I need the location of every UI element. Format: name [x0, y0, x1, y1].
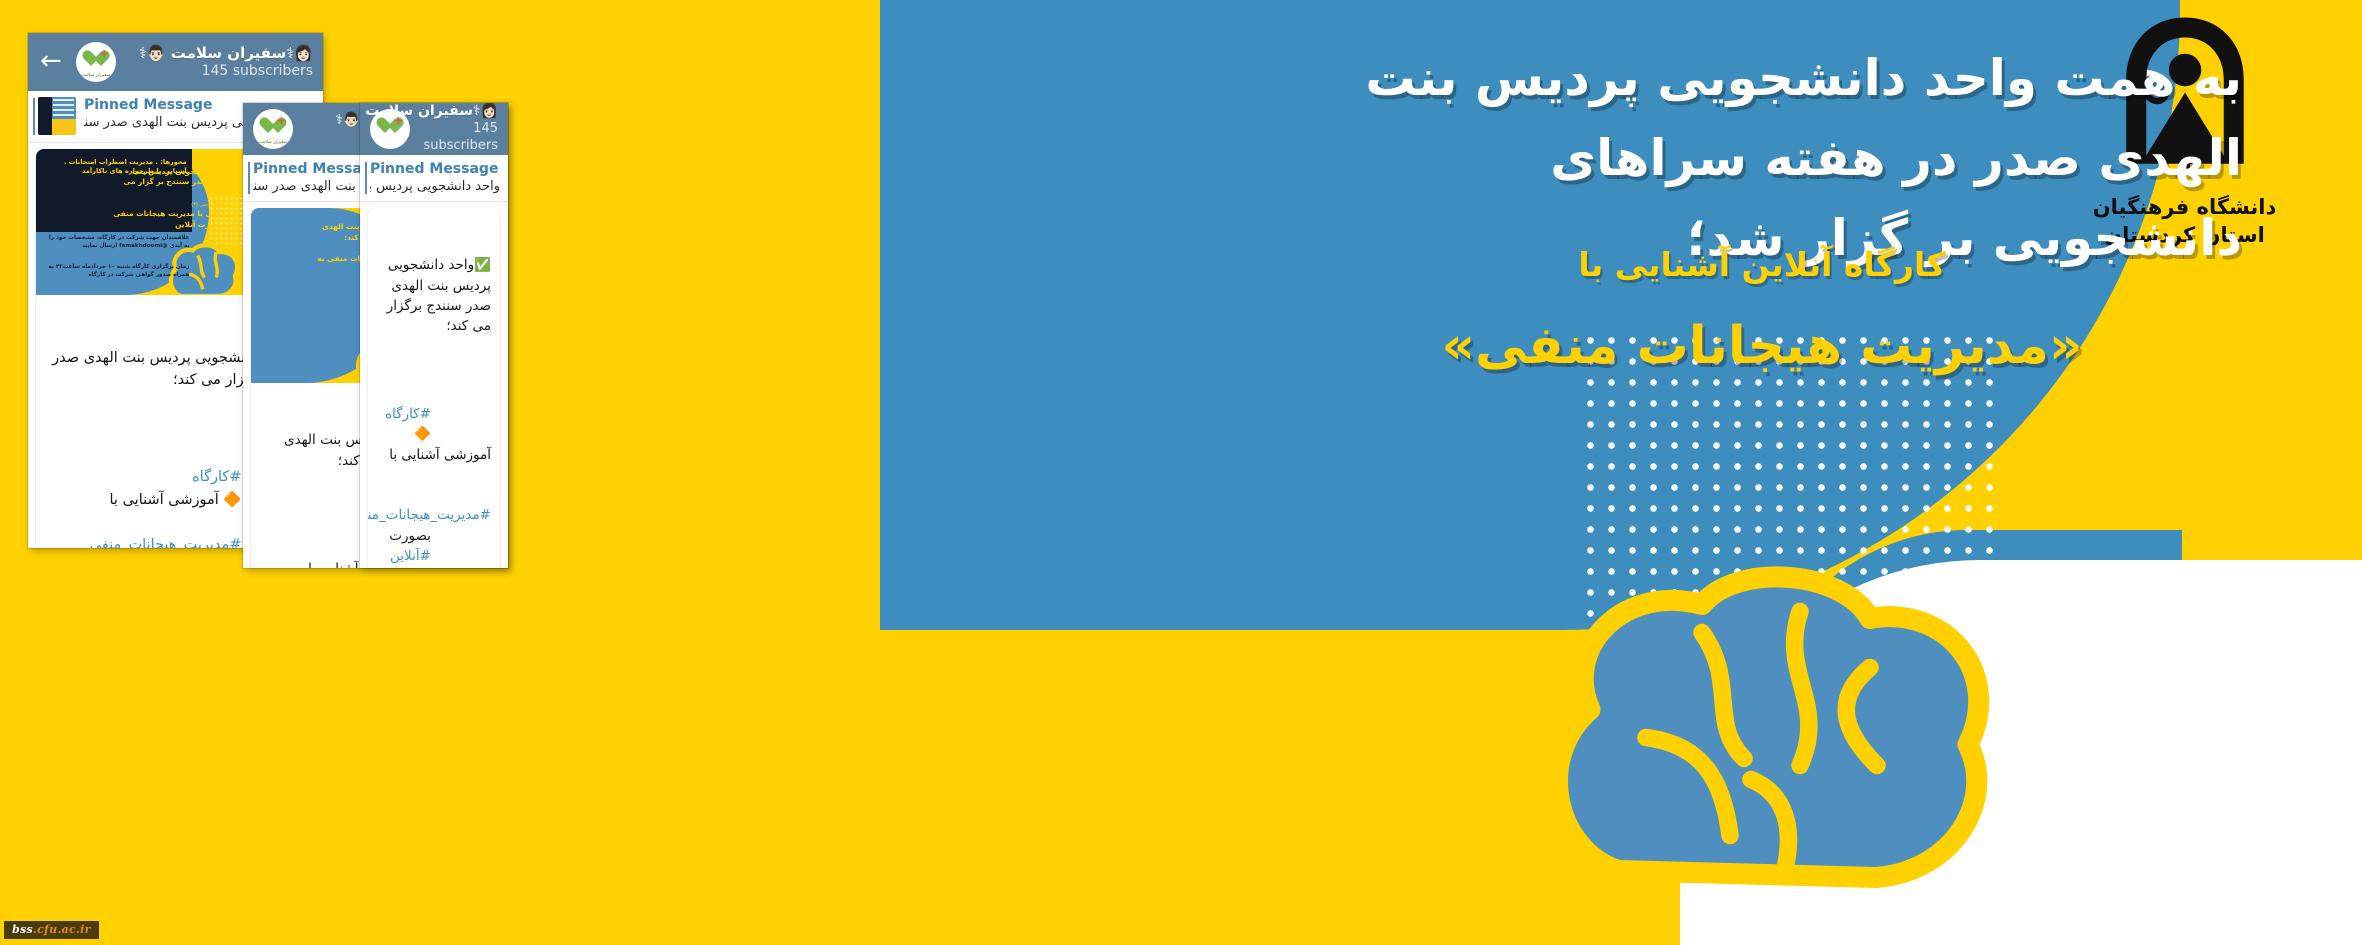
- message-list: ✅واحد دانشجویی پردیس بنت الهدی صدر سنندج…: [360, 202, 508, 568]
- channel-header: + 👩🏻⚕سفیران سلامت 👨🏻⚕ 145 subscribers: [360, 103, 508, 155]
- poster-heading-line: واحد دانشجویی پردیس بنت الهدی صدر سنندج …: [124, 167, 232, 197]
- channel-subscribers: 145 subscribers: [418, 121, 498, 155]
- watermark: bss.cfu.ac.ir: [4, 921, 99, 939]
- main-poster: دانشگاه فرهنگیان استان کردستان به همت وا…: [880, 0, 2362, 945]
- plus-icon: +: [394, 115, 403, 126]
- channel-header: ← + سفیران سلامت 👩🏻⚕سفیران سلامت 👨🏻⚕ 145…: [28, 33, 323, 91]
- watermark-prefix: bss: [12, 923, 33, 936]
- channel-title: 👩🏻⚕سفیران سلامت 👨🏻⚕: [124, 44, 313, 63]
- plus-icon: +: [277, 115, 286, 126]
- message-line-check: ✅واحد دانشجویی پردیس بنت الهدی صدر سنندج…: [377, 255, 491, 336]
- back-arrow-icon[interactable]: ←: [38, 48, 68, 77]
- screenshot-root: ← + سفیران سلامت 👩🏻⚕سفیران سلامت 👨🏻⚕ 145…: [0, 0, 2362, 945]
- poster-subtitle: کارگاه آنلاین آشنایی با: [1312, 240, 2212, 290]
- avatar-caption: سفیران سلامت: [253, 140, 293, 145]
- watermark-suffix: .cfu.ac.ir: [33, 923, 91, 936]
- message-bubble[interactable]: ✅واحد دانشجویی پردیس بنت الهدی صدر سنندج…: [368, 208, 500, 568]
- channel-meta: 👩🏻⚕سفیران سلامت 👨🏻⚕ 145 subscribers: [124, 44, 313, 81]
- message-line-workshop: #کارگاه 🔶 آموزشی آشنایی با #مدیریت_هیجان…: [377, 384, 491, 568]
- pinned-message-bar[interactable]: Pinned Message واحد دانشجویی پردیس بنت ا…: [360, 155, 508, 202]
- hashtag-workshop[interactable]: #کارگاه: [192, 469, 241, 485]
- pinned-label: Pinned Message: [370, 161, 500, 178]
- brain-icon: [1520, 560, 2080, 945]
- channel-title: 👩🏻⚕سفیران سلامت 👨🏻⚕: [418, 103, 498, 121]
- message-text: ✅واحد دانشجویی پردیس بنت الهدی صدر سنندج…: [368, 208, 500, 568]
- telegram-screenshot-collage: ← + سفیران سلامت 👩🏻⚕سفیران سلامت 👨🏻⚕ 145…: [0, 0, 880, 945]
- poster-heading-text: واحد دانشجویی پردیس بنت الهدی صدر سنندج …: [109, 167, 232, 231]
- poster-contact-text: علاقمندان جهت شرکت در کارگاه، مشخصات خود…: [44, 234, 189, 250]
- poster-headline: «مدیریت هیجانات منفی»: [1312, 310, 2212, 383]
- workshop-mid: بصورت: [389, 528, 431, 544]
- channel-avatar[interactable]: +: [370, 109, 410, 149]
- poster-topic: آشنایی با مدیریت هیجانات منفی به صورت آن…: [113, 209, 231, 229]
- hashtag-workshop[interactable]: #کارگاه: [385, 406, 431, 422]
- poster-time-text: زمان برگزاری کارگاه شنبه ۱۰ خردادماه ساع…: [44, 263, 189, 279]
- channel-avatar[interactable]: + سفیران سلامت: [76, 42, 116, 82]
- workshop-plain: 🔶 آموزشی آشنایی با: [389, 426, 491, 462]
- channel-avatar[interactable]: + سفیران سلامت: [253, 109, 293, 149]
- avatar-caption: سفیران سلامت: [76, 73, 116, 78]
- pinned-thumbnail: [38, 97, 76, 135]
- hashtag-topic[interactable]: #مدیریت_هیجانات_منفی: [368, 507, 491, 523]
- poster-badge: کارگاه آموزشی (۳): [191, 202, 231, 208]
- pinned-body: Pinned Message واحد دانشجویی پردیس بنت ا…: [370, 161, 500, 194]
- channel-meta: 👩🏻⚕سفیران سلامت 👨🏻⚕ 145 subscribers: [418, 103, 498, 154]
- pinned-preview: واحد دانشجویی پردیس بنت الهدی صدر سنندج.…: [370, 179, 500, 194]
- workshop-plain: 🔶 آموزشی آشنایی با: [110, 492, 242, 508]
- hashtag-online[interactable]: #آنلاین: [390, 548, 431, 564]
- hashtag-topic[interactable]: #مدیریت_هیجانات_منفی: [90, 537, 242, 548]
- telegram-screenshot-3: + 👩🏻⚕سفیران سلامت 👨🏻⚕ 145 subscribers Pi…: [360, 103, 508, 568]
- plus-icon: +: [100, 48, 109, 59]
- channel-subscribers: 145 subscribers: [124, 62, 313, 80]
